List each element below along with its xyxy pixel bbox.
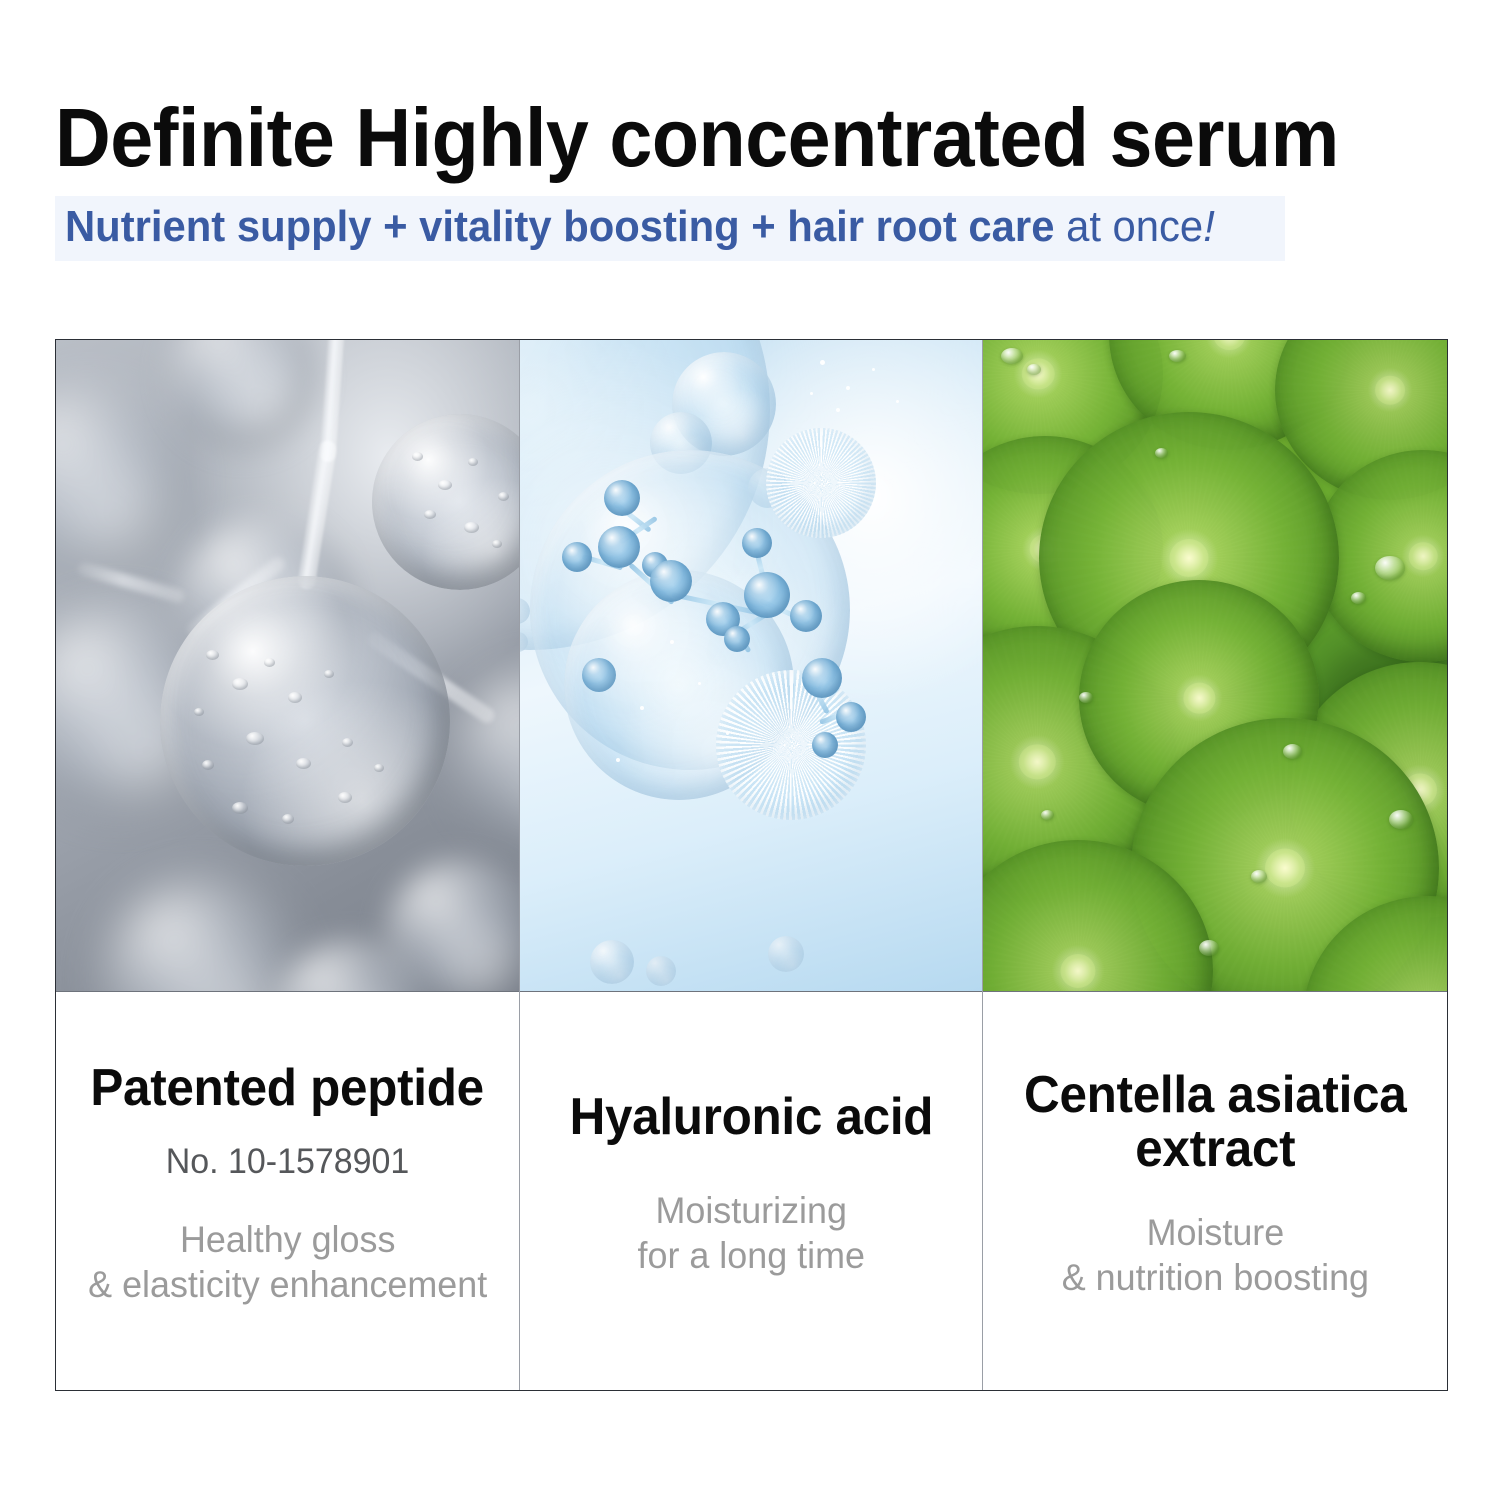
centella-caption: Centella asiatica extract Moisture & nut… (983, 992, 1447, 1390)
ingredient-card-peptide: Patented peptide No. 10-1578901 Healthy … (56, 340, 520, 1390)
ingredient-grid: Patented peptide No. 10-1578901 Healthy … (55, 339, 1448, 1391)
page-title: Definite Highly concentrated serum (55, 98, 1350, 178)
centella-description-line-1: Moisture (1062, 1210, 1369, 1255)
hyaluronic-acid-caption: Hyaluronic acid Moisturizing for a long … (520, 992, 983, 1390)
peptide-description: Healthy gloss & elasticity enhancement (88, 1217, 487, 1307)
subtitle-light-text: at once (1054, 202, 1203, 251)
centella-description: Moisture & nutrition boosting (1062, 1210, 1369, 1300)
header: Definite Highly concentrated serum Nutri… (55, 98, 1448, 261)
hyaluronic-acid-title: Hyaluronic acid (569, 1090, 933, 1144)
peptide-molecule-spheres-image (56, 340, 519, 992)
centella-description-line-2: & nutrition boosting (1062, 1255, 1369, 1300)
ingredient-card-hyaluronic-acid: Hyaluronic acid Moisturizing for a long … (520, 340, 984, 1390)
hyaluronic-acid-bubbles-image (520, 340, 983, 992)
hyaluronic-acid-description: Moisturizing for a long time (637, 1188, 864, 1278)
ingredient-card-centella: Centella asiatica extract Moisture & nut… (983, 340, 1447, 1390)
hyaluronic-acid-description-line-2: for a long time (637, 1233, 864, 1278)
centella-title: Centella asiatica extract (1024, 1068, 1406, 1176)
subtitle-strong-text: Nutrient supply + vitality boosting + ha… (65, 202, 1054, 251)
peptide-description-line-1: Healthy gloss (88, 1217, 487, 1262)
peptide-description-line-2: & elasticity enhancement (88, 1262, 487, 1307)
peptide-title: Patented peptide (91, 1061, 484, 1115)
subtitle: Nutrient supply + vitality boosting + ha… (65, 202, 1215, 251)
centella-asiatica-leaves-image (983, 340, 1447, 992)
product-infographic: Definite Highly concentrated serum Nutri… (0, 0, 1500, 1500)
peptide-caption: Patented peptide No. 10-1578901 Healthy … (56, 992, 519, 1390)
subtitle-exclamation: ! (1203, 202, 1215, 251)
centella-title-line-2: extract (1024, 1122, 1406, 1176)
subtitle-highlight-band: Nutrient supply + vitality boosting + ha… (55, 196, 1285, 261)
peptide-patent-number: No. 10-1578901 (166, 1141, 410, 1183)
hyaluronic-acid-description-line-1: Moisturizing (637, 1188, 864, 1233)
centella-title-line-1: Centella asiatica (1024, 1068, 1406, 1122)
